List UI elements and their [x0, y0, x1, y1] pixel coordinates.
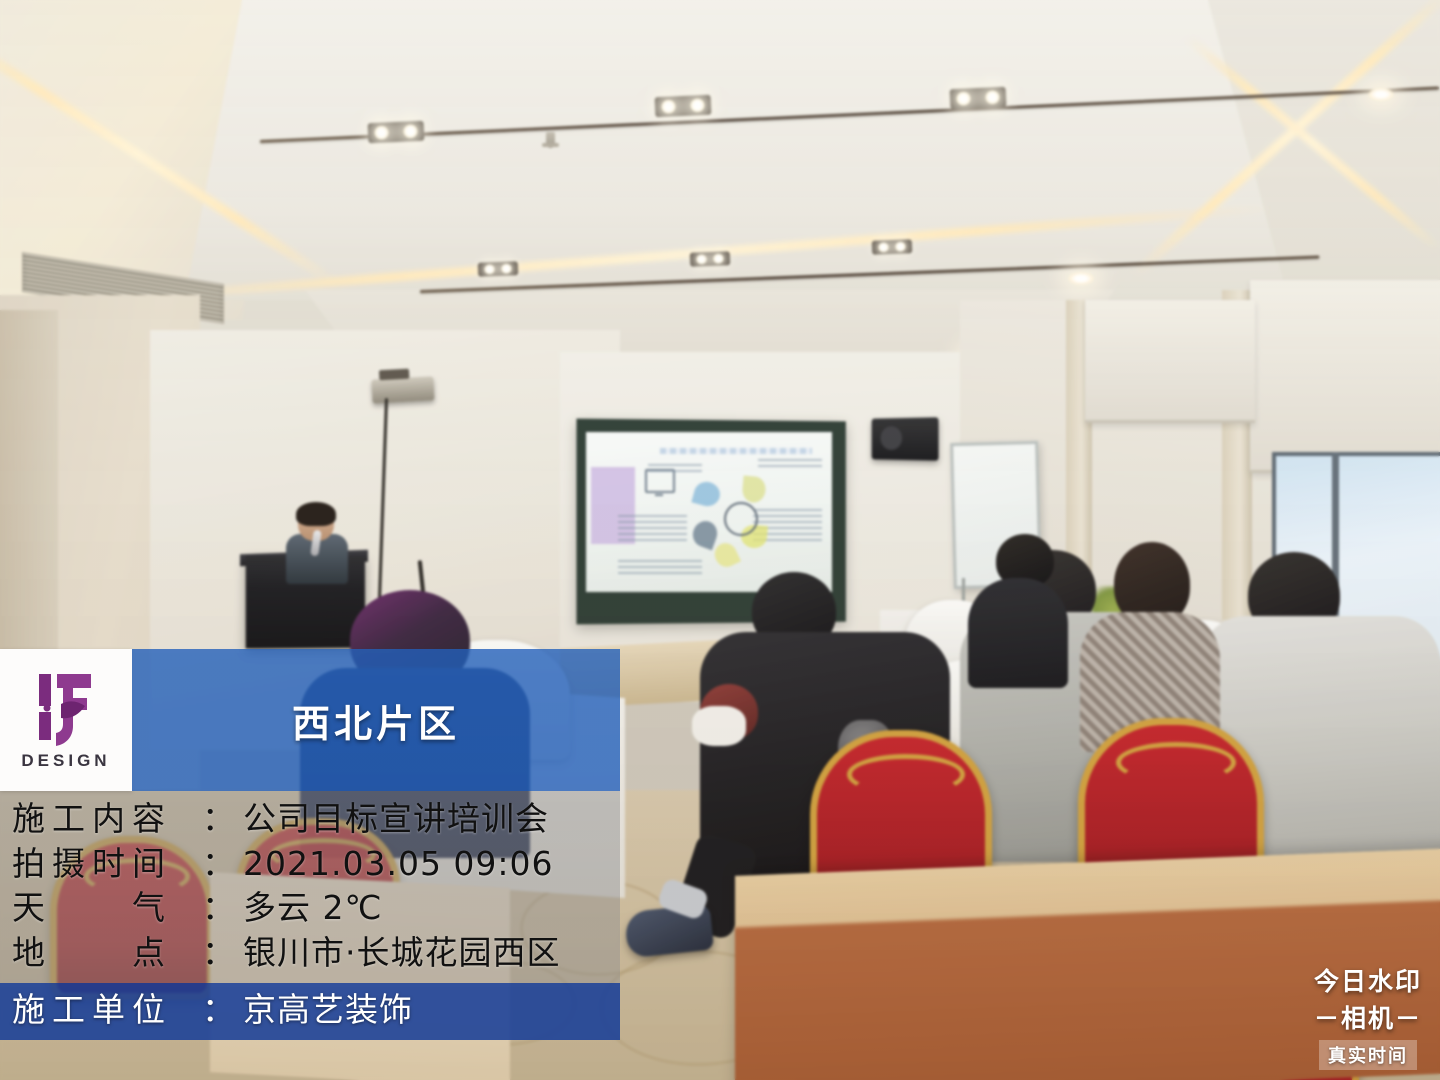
info-row-weather: 天 气 ： 多云 2℃ [12, 886, 608, 931]
screenshot-root: DESIGN 西北片区 施工内容 ： 公司目标宣讲培训会 拍摄时间 ： 2021… [0, 0, 1440, 1080]
info-label-company: 施工单位 [12, 988, 202, 1033]
info-colon-content: ： [202, 797, 235, 842]
wall-speaker [872, 417, 939, 460]
info-colon-time: ： [202, 842, 235, 887]
logo-monogram-icon [31, 670, 101, 748]
app-brand-mark: 今日水印 －相机－ 真实时间 [1314, 962, 1422, 1070]
spotlight-pair-4 [478, 261, 519, 277]
downlight-2 [1068, 272, 1094, 285]
watermark-footer-block: 施工单位 ： 京高艺装饰 [0, 983, 620, 1040]
ceiling-projector [371, 376, 434, 403]
info-row-time: 拍摄时间 ： 2021.03.05 09:06 [12, 842, 608, 887]
slide-petal-bottom [711, 539, 741, 570]
info-label-location: 地 点 [12, 931, 202, 976]
info-value-weather: 多云 2℃ [243, 886, 383, 931]
spotlight-pair-5 [690, 251, 731, 267]
downlight-1 [1368, 88, 1394, 101]
spotlight-pair-6 [872, 239, 913, 255]
slide-petal-blue [692, 479, 723, 509]
presenter-hair [296, 502, 336, 526]
slide-header-bar [660, 448, 813, 454]
region-title: 西北片区 [292, 693, 460, 748]
info-label-time: 拍摄时间 [12, 842, 202, 887]
info-colon-company: ： [202, 988, 235, 1033]
spotlight-pair-2 [655, 95, 712, 118]
slide-center-label [724, 502, 758, 536]
info-row-content: 施工内容 ： 公司目标宣讲培训会 [12, 797, 608, 842]
sprinkler-head [546, 132, 555, 148]
info-colon-location: ： [202, 931, 235, 976]
slide-text-c [618, 560, 702, 576]
watermark-header: DESIGN 西北片区 [0, 649, 620, 791]
window-blind-left [1085, 300, 1255, 423]
logo-wordmark: DESIGN [21, 751, 110, 771]
region-title-band: 西北片区 [132, 649, 620, 791]
info-row-company: 施工单位 ： 京高艺装饰 [12, 988, 608, 1033]
info-label-weather: 天 气 [12, 886, 202, 931]
info-value-company: 京高艺装饰 [243, 988, 413, 1033]
spotlight-pair-3 [950, 87, 1007, 110]
slide-text-d [758, 459, 822, 469]
info-value-time: 2021.03.05 09:06 [243, 842, 554, 887]
watermark-info-block: 施工内容 ： 公司目标宣讲培训会 拍摄时间 ： 2021.03.05 09:06… [0, 791, 620, 983]
window-blind-right [1250, 280, 1440, 473]
brand-line-1: 今日水印 [1314, 962, 1422, 998]
info-value-location: 银川市·长城花园西区 [243, 931, 561, 976]
info-value-content: 公司目标宣讲培训会 [243, 797, 549, 842]
spotlight-pair-1 [368, 121, 425, 144]
slide-petal-gray [689, 517, 720, 550]
projection-screen [586, 432, 832, 592]
info-row-location: 地 点 ： 银川市·长城花园西区 [12, 931, 608, 976]
info-colon-weather: ： [202, 886, 235, 931]
slide-text-b [618, 515, 687, 545]
company-logo: DESIGN [0, 649, 132, 791]
info-label-content: 施工内容 [12, 797, 202, 842]
brand-badge: 真实时间 [1319, 1040, 1417, 1070]
slide-petal-yellow [741, 476, 766, 504]
brand-line-2: －相机－ [1314, 999, 1422, 1035]
watermark-overlay: DESIGN 西北片区 施工内容 ： 公司目标宣讲培训会 拍摄时间 ： 2021… [0, 649, 620, 1040]
slide-text-a [648, 464, 702, 474]
